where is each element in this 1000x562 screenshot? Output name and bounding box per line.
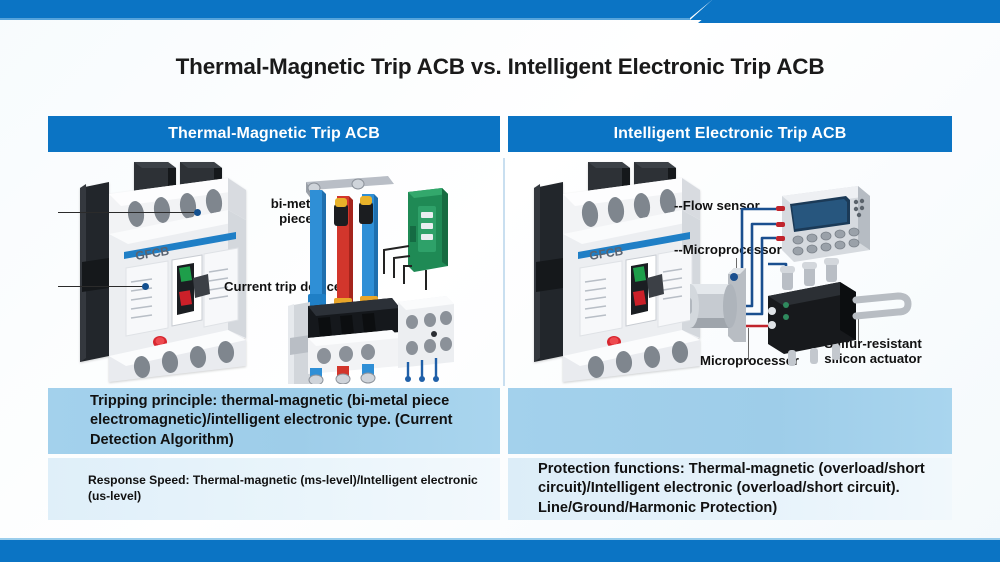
leader-dot-bi-metal bbox=[194, 209, 201, 216]
top-banner-bar-primary bbox=[0, 0, 712, 18]
mccb-breaker-right: GFCB bbox=[530, 160, 715, 382]
top-banner-hairline bbox=[0, 18, 690, 20]
trip-device-assembly bbox=[288, 166, 488, 384]
info-box-right-empty bbox=[508, 388, 952, 454]
top-banner-bar-accent bbox=[698, 13, 1000, 23]
info-text-response-speed: Response Speed: Thermal-magnetic (ms-lev… bbox=[88, 473, 486, 505]
sensor-actuator-assembly bbox=[690, 178, 952, 378]
info-box-tripping-principle: Tripping principle: thermal-magnetic (bi… bbox=[48, 388, 500, 454]
bottom-banner bbox=[0, 540, 1000, 562]
info-box-protection-functions: Protection functions: Thermal-magnetic (… bbox=[508, 458, 952, 520]
right-diagram: GFCB bbox=[508, 158, 952, 386]
info-text-protection-functions: Protection functions: Thermal-magnetic (… bbox=[538, 460, 938, 518]
leader-line-bi-metal bbox=[58, 212, 198, 213]
leader-dot-current-trip bbox=[142, 283, 149, 290]
info-text-tripping-principle: Tripping principle: thermal-magnetic (bi… bbox=[90, 392, 486, 450]
column-header-left: Thermal-Magnetic Trip ACB bbox=[48, 116, 500, 152]
left-diagram: GFCB bbox=[48, 158, 500, 386]
column-divider bbox=[503, 158, 505, 386]
info-box-response-speed: Response Speed: Thermal-magnetic (ms-lev… bbox=[48, 458, 500, 520]
column-header-right: Intelligent Electronic Trip ACB bbox=[508, 116, 952, 152]
mccb-breaker-left: GFCB bbox=[76, 160, 261, 382]
slide-root: Thermal-Magnetic Trip ACB vs. Intelligen… bbox=[0, 0, 1000, 562]
top-banner bbox=[0, 0, 1000, 26]
leader-line-current-trip bbox=[58, 286, 146, 287]
page-title: Thermal-Magnetic Trip ACB vs. Intelligen… bbox=[0, 54, 1000, 80]
